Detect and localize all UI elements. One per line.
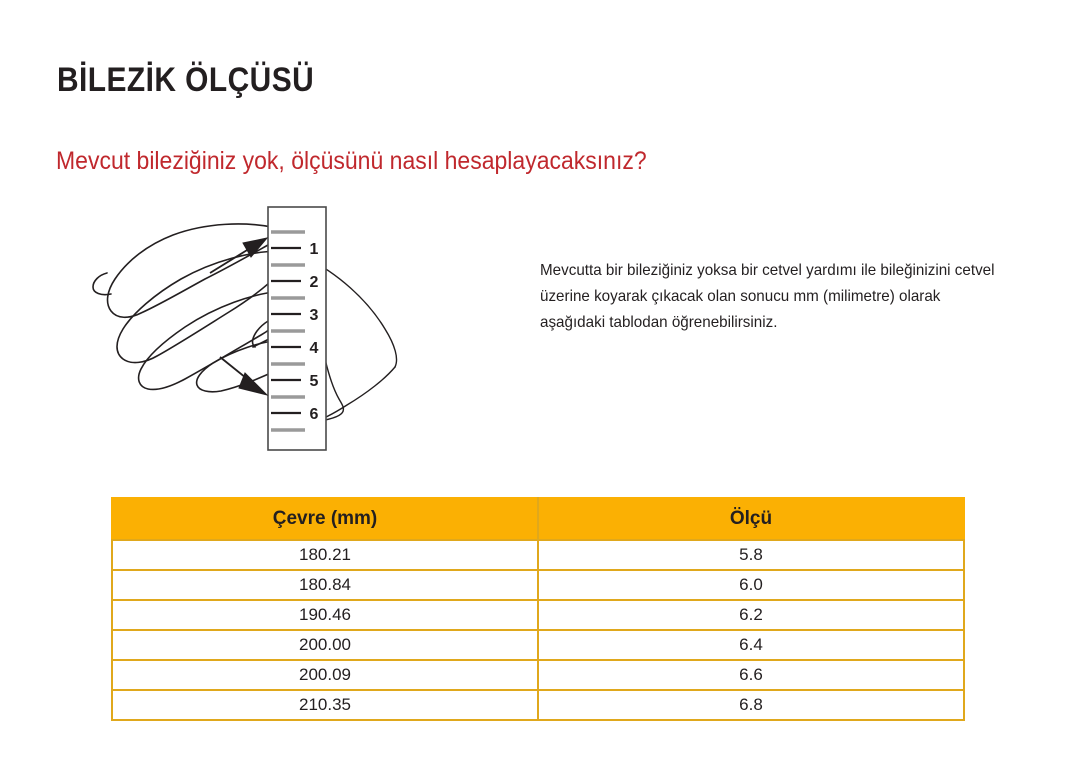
cell-circumference: 180.84 <box>112 570 538 600</box>
cell-circumference: 190.46 <box>112 600 538 630</box>
ruler-label-5: 5 <box>310 373 319 390</box>
ruler-label-1: 1 <box>310 241 319 258</box>
middle-finger-path <box>117 251 283 363</box>
size-table-container: Çevre (mm) Ölçü 180.21 5.8 180.84 6.0 19… <box>111 497 965 721</box>
ruler-label-6: 6 <box>310 406 319 423</box>
table-header-row: Çevre (mm) Ölçü <box>112 498 964 540</box>
table-row: 200.00 6.4 <box>112 630 964 660</box>
cell-circumference: 200.00 <box>112 630 538 660</box>
cell-size: 6.6 <box>538 660 964 690</box>
cell-size: 6.0 <box>538 570 964 600</box>
table-row: 210.35 6.8 <box>112 690 964 720</box>
table-row: 190.46 6.2 <box>112 600 964 630</box>
cell-circumference: 200.09 <box>112 660 538 690</box>
page-subtitle: Mevcut bileziğiniz yok, ölçüsünü nasıl h… <box>56 147 647 176</box>
cell-circumference: 180.21 <box>112 540 538 570</box>
instructions-text-block: Mevcutta bir bileziğiniz yoksa bir cetve… <box>540 258 996 336</box>
column-header-size: Ölçü <box>538 498 964 540</box>
upper-measure-arrow <box>210 238 267 273</box>
table-head: Çevre (mm) Ölçü <box>112 498 964 540</box>
index-finger-path <box>108 224 277 317</box>
ruler-label-3: 3 <box>310 307 319 324</box>
cell-size: 6.8 <box>538 690 964 720</box>
ring-finger-path <box>139 291 285 389</box>
table-row: 200.09 6.6 <box>112 660 964 690</box>
column-header-circumference: Çevre (mm) <box>112 498 538 540</box>
table-row: 180.21 5.8 <box>112 540 964 570</box>
hand-ruler-svg: 1 2 3 4 5 6 <box>55 195 475 470</box>
cell-circumference: 210.35 <box>112 690 538 720</box>
instructions-paragraph: Mevcutta bir bileziğiniz yoksa bir cetve… <box>540 258 996 336</box>
cell-size: 6.4 <box>538 630 964 660</box>
hand-on-ruler-illustration: 1 2 3 4 5 6 <box>55 195 475 470</box>
ruler-label-2: 2 <box>310 274 319 291</box>
page-title: BİLEZİK ÖLÇÜSÜ <box>57 61 314 100</box>
table-body: 180.21 5.8 180.84 6.0 190.46 6.2 200.00 … <box>112 540 964 720</box>
cell-size: 6.2 <box>538 600 964 630</box>
cell-size: 5.8 <box>538 540 964 570</box>
table-row: 180.84 6.0 <box>112 570 964 600</box>
bracelet-size-table: Çevre (mm) Ölçü 180.21 5.8 180.84 6.0 19… <box>111 497 965 721</box>
ruler-label-4: 4 <box>310 340 319 357</box>
